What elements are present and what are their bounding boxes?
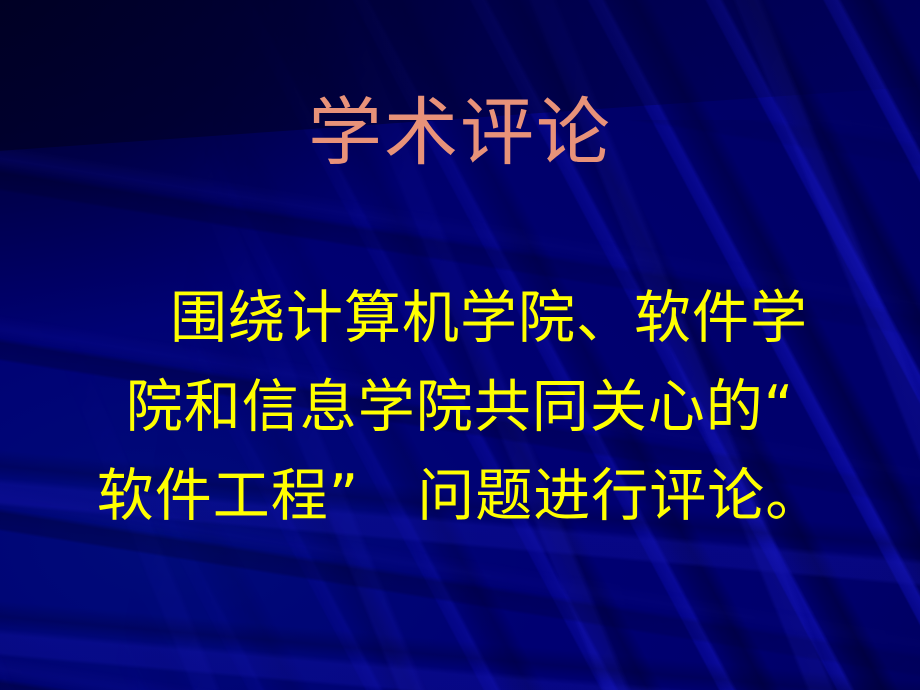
slide-content: 学术评论 围绕计算机学院、软件学 院和信息学院共同关心的“ 软件工程” 问题进行… (0, 0, 920, 690)
slide-body: 围绕计算机学院、软件学 院和信息学院共同关心的“ 软件工程” 问题进行评论。 (0, 274, 920, 541)
slide-title: 学术评论 (0, 96, 920, 170)
body-line-1: 围绕计算机学院、软件学 (0, 274, 920, 363)
body-line-2: 院和信息学院共同关心的“ (0, 363, 920, 452)
presentation-slide: 学术评论 围绕计算机学院、软件学 院和信息学院共同关心的“ 软件工程” 问题进行… (0, 0, 920, 690)
body-line-3: 软件工程” 问题进行评论。 (0, 452, 920, 541)
